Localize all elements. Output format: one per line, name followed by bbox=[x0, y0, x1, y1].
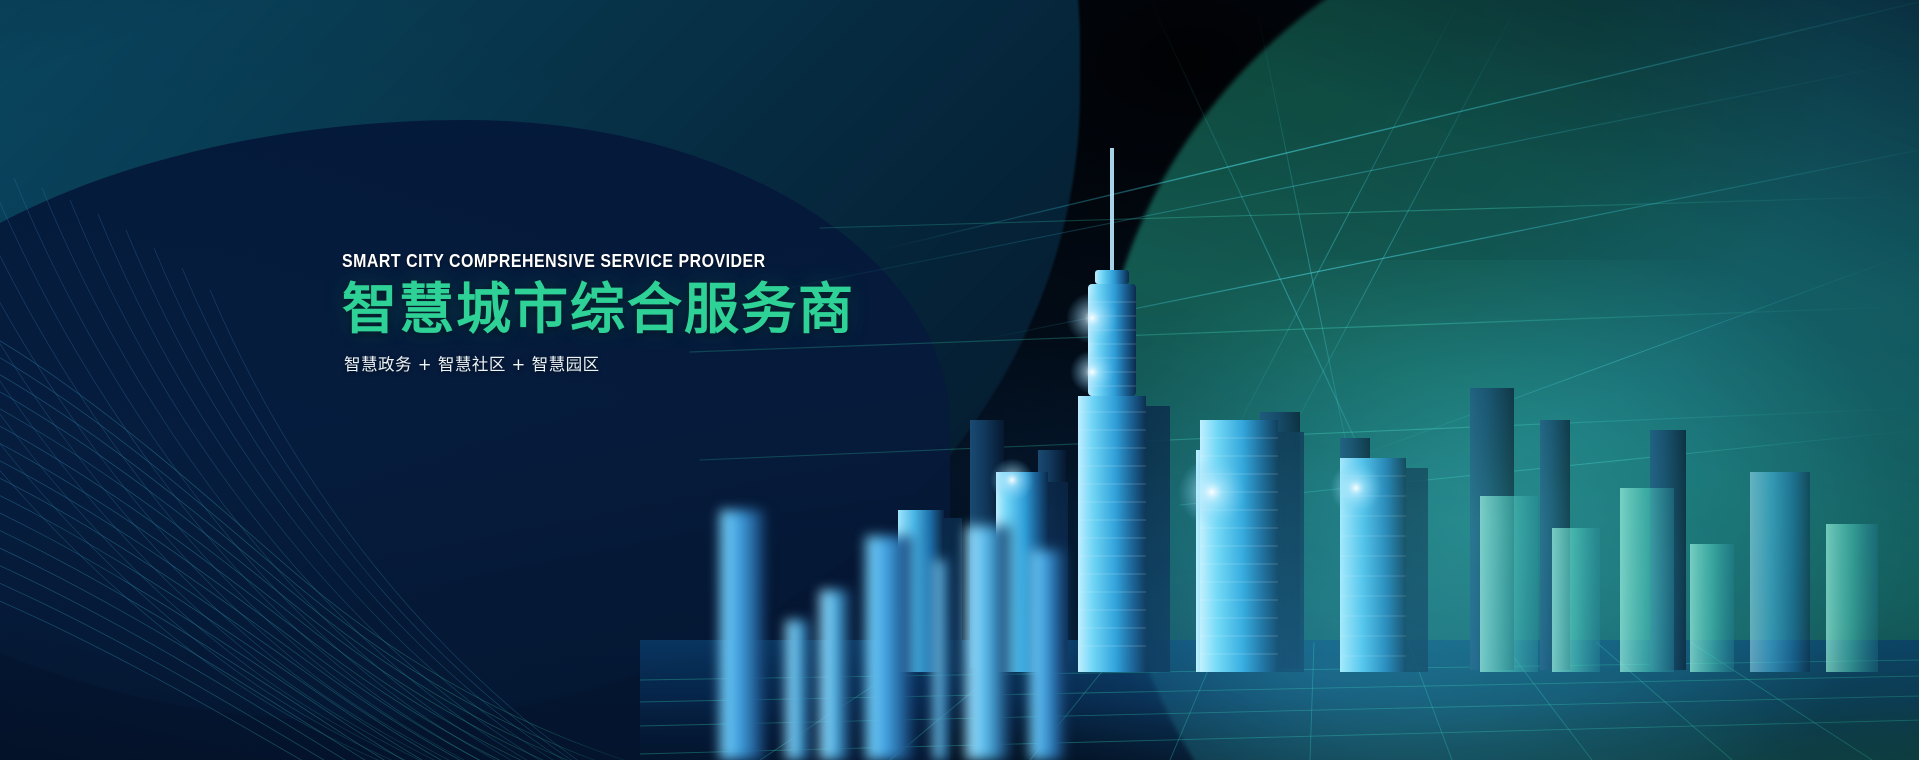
hero-headline: 智慧城市综合服务商 bbox=[342, 280, 962, 338]
green-bottom-glow bbox=[1039, 260, 1919, 760]
hero-copy-block: SMART CITY COMPREHENSIVE SERVICE PROVIDE… bbox=[342, 250, 962, 375]
hero-banner: SMART CITY COMPREHENSIVE SERVICE PROVIDE… bbox=[0, 0, 1919, 760]
hero-eyebrow: SMART CITY COMPREHENSIVE SERVICE PROVIDE… bbox=[342, 250, 875, 272]
hero-subline: 智慧政务 + 智慧社区 + 智慧园区 bbox=[344, 351, 962, 375]
navy-body-shape bbox=[0, 120, 950, 760]
